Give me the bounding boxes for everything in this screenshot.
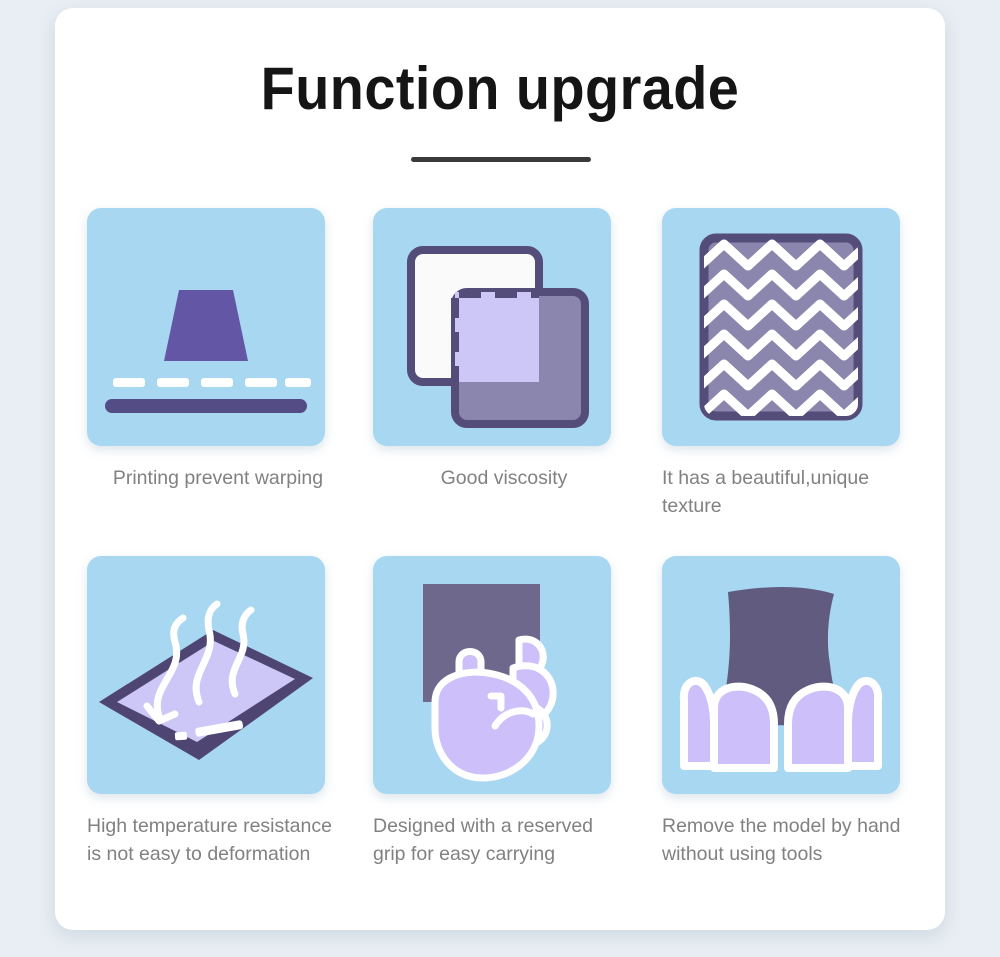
feature-item-texture[interactable]: It has a beautiful,unique texture <box>645 208 930 520</box>
feature-item-viscosity[interactable]: Good viscosity <box>360 208 645 492</box>
feature-icon-tile <box>662 556 900 794</box>
zigzag-texture-icon <box>662 208 900 446</box>
feature-row-2: High temperature resistance is not easy … <box>55 556 945 904</box>
feature-caption: It has a beautiful,unique texture <box>662 464 912 520</box>
feature-caption: Good viscosity <box>373 464 635 492</box>
title-divider <box>411 157 591 162</box>
feature-icon-tile <box>87 556 325 794</box>
feature-icon-tile <box>373 556 611 794</box>
feature-caption: High temperature resistance is not easy … <box>87 812 337 868</box>
feature-page: Function upgrade <box>0 0 1000 957</box>
feature-item-grip[interactable]: Designed with a reserved grip for easy c… <box>360 556 645 868</box>
page-title: Function upgrade <box>86 54 914 124</box>
feature-item-heat-resistance[interactable]: High temperature resistance is not easy … <box>75 556 360 868</box>
feature-item-removal[interactable]: Remove the model by hand without using t… <box>645 556 930 868</box>
hand-grip-plate-icon <box>373 556 611 794</box>
feature-icon-tile <box>87 208 325 446</box>
feature-icon-tile <box>662 208 900 446</box>
feature-caption: Remove the model by hand without using t… <box>662 812 912 868</box>
feature-icon-tile <box>373 208 611 446</box>
feature-card: Function upgrade <box>55 8 945 930</box>
overlapping-squares-icon <box>373 208 611 446</box>
two-hands-flex-plate-icon <box>662 556 900 794</box>
feature-item-anti-warping[interactable]: Printing prevent warping <box>75 208 360 492</box>
feature-grid: Printing prevent warping Good vis <box>55 208 945 904</box>
warping-plate-icon <box>87 208 325 446</box>
feature-caption: Designed with a reserved grip for easy c… <box>373 812 623 868</box>
feature-row-1: Printing prevent warping Good vis <box>55 208 945 556</box>
feature-caption: Printing prevent warping <box>87 464 349 492</box>
heat-plate-icon <box>87 556 325 794</box>
